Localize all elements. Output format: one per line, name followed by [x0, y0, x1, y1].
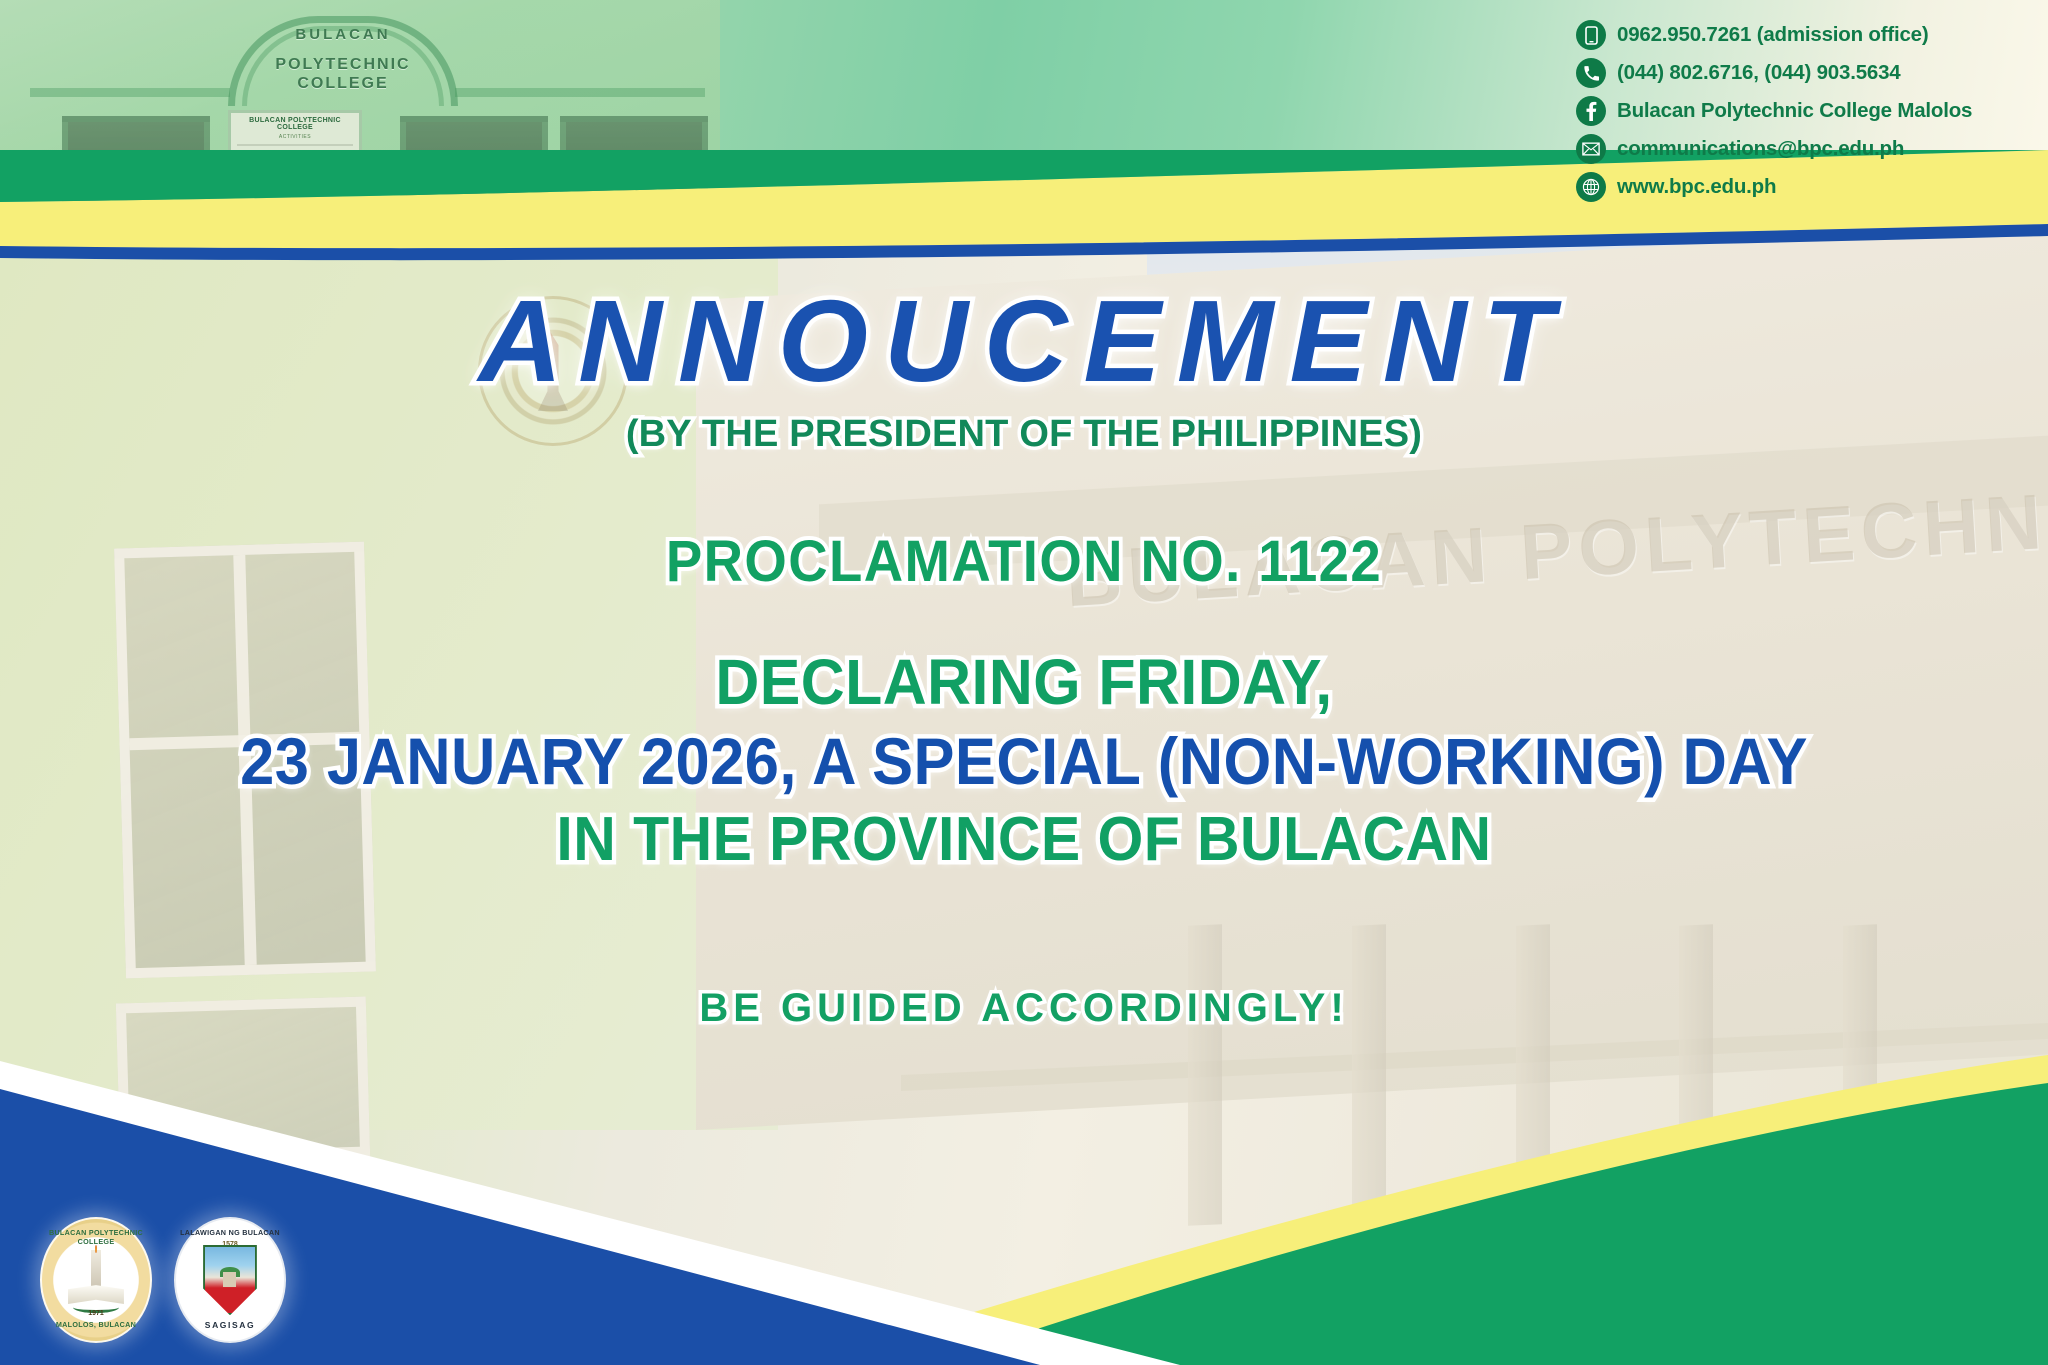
- bpc-seal-year: 1971: [40, 1310, 152, 1317]
- province-seal-text-bottom: SAGISAG: [174, 1320, 286, 1330]
- globe-icon: [1576, 172, 1606, 202]
- building-ledge: [30, 88, 230, 97]
- proclamation-number: PROCLAMATION NO. 1122: [61, 528, 1986, 595]
- telephone-icon: [1576, 58, 1606, 88]
- email-icon: [1576, 134, 1606, 164]
- mobile-phone-icon: [1576, 20, 1606, 50]
- page-subtitle: (BY THE PRESIDENT OF THE PHILIPPINES): [0, 413, 2048, 456]
- bulletin-subtitle: ACTIVITIES: [231, 134, 359, 140]
- announcement-poster: BULACAN POLYTECHNIC COLLEGE BULACAN POLY…: [0, 0, 2048, 1365]
- closing-statement: BE GUIDED ACCORDINGLY!: [0, 986, 2048, 1031]
- contact-row-mobile[interactable]: 0962.950.7261 (admission office): [1576, 16, 2006, 54]
- footer-wave-decoration: [0, 1035, 2048, 1365]
- contact-row-facebook[interactable]: Bulacan Polytechnic College Malolos: [1576, 92, 2006, 130]
- declaration-line-1: DECLARING FRIDAY,: [51, 645, 1997, 719]
- footer-seals: BULACAN POLYTECHNIC COLLEGE 1971 MALOLOS…: [40, 1217, 286, 1343]
- contact-info-list: 0962.950.7261 (admission office) (044) 8…: [1576, 16, 2006, 205]
- contact-text-mobile: 0962.950.7261 (admission office): [1617, 23, 1929, 47]
- signage-line-2: POLYTECHNIC: [228, 56, 458, 74]
- bulacan-province-seal: LALAWIGAN NG BULACAN 1578 SAGISAG: [174, 1217, 286, 1343]
- contact-text-website: www.bpc.edu.ph: [1617, 175, 1776, 199]
- announcement-content: ANNOUCEMENT (BY THE PRESIDENT OF THE PHI…: [0, 205, 2048, 1031]
- signage-line-1: BULACAN: [228, 26, 458, 43]
- contact-row-website[interactable]: www.bpc.edu.ph: [1576, 168, 2006, 205]
- church-icon: [223, 1272, 236, 1287]
- contact-row-telephone[interactable]: (044) 802.6716, (044) 903.5634: [1576, 54, 2006, 92]
- facebook-icon: [1576, 96, 1606, 126]
- bpc-seal: BULACAN POLYTECHNIC COLLEGE 1971 MALOLOS…: [40, 1217, 152, 1343]
- bpc-seal-text-top: BULACAN POLYTECHNIC COLLEGE: [40, 1228, 152, 1246]
- bulletin-title: BULACAN POLYTECHNIC COLLEGE: [231, 117, 359, 131]
- building-ledge: [455, 88, 705, 97]
- bpc-seal-emblem: [67, 1249, 125, 1312]
- bpc-seal-text-bottom: MALOLOS, BULACAN: [40, 1320, 152, 1329]
- flame-icon: [95, 1245, 97, 1253]
- declaration-line-2: 23 JANUARY 2026, A SPECIAL (NON-WORKING)…: [72, 723, 1977, 800]
- contact-text-telephone: (044) 802.6716, (044) 903.5634: [1617, 61, 1901, 85]
- declaration-line-3: IN THE PROVINCE OF BULACAN: [51, 804, 1997, 876]
- declaration-block: DECLARING FRIDAY, 23 JANUARY 2026, A SPE…: [0, 645, 2048, 876]
- torch-icon: [91, 1250, 100, 1287]
- page-title: ANNOUCEMENT: [0, 283, 2048, 399]
- signage-line-3: COLLEGE: [228, 75, 458, 93]
- contact-row-email[interactable]: communications@bpc.edu.ph: [1576, 130, 2006, 168]
- province-seal-text-top: LALAWIGAN NG BULACAN: [174, 1228, 286, 1237]
- contact-text-facebook: Bulacan Polytechnic College Malolos: [1617, 99, 1972, 123]
- contact-text-email: communications@bpc.edu.ph: [1617, 137, 1904, 161]
- building-signage: BULACAN POLYTECHNIC COLLEGE: [228, 26, 458, 93]
